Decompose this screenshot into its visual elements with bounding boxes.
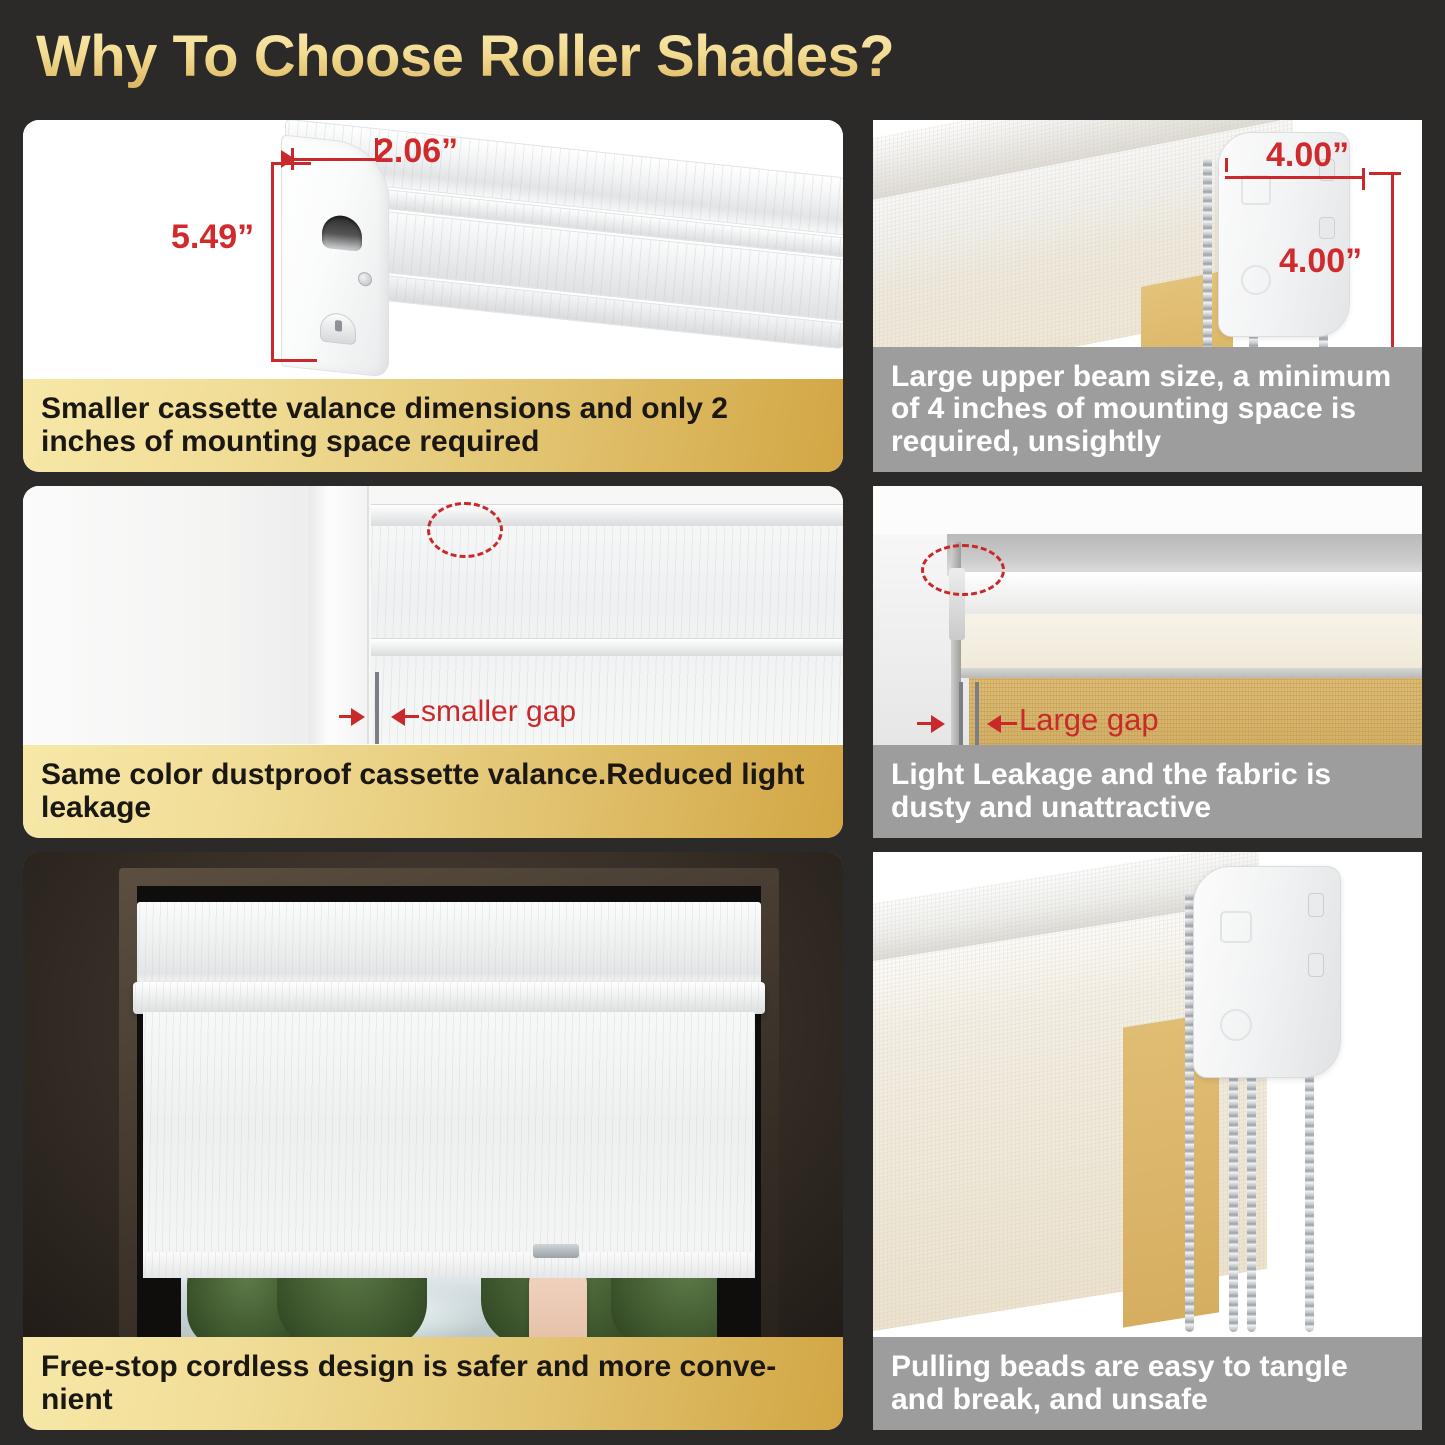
ceiling-strip [873,486,1422,534]
caption-text-panel-6: Pulling beads are easy to tangle and bre… [891,1351,1406,1416]
gap-marker-second [975,682,979,748]
caption-bar-panel-4: Light Leakage and the fabric is dusty an… [873,745,1422,838]
window-glass [181,1278,717,1338]
highlight-circle-icon [921,544,1005,596]
mounting-bracket [1193,866,1341,1078]
gap-marker [375,672,379,744]
photo-large-gap: Large gap [873,486,1422,748]
panel-smaller-gap: smaller gap Same color dustproof cassett… [23,486,843,838]
gap-marker [959,682,963,748]
shade-headrail [137,902,761,986]
gap-arrow-left-icon [391,708,405,726]
bead-chain-tail [1305,1074,1314,1332]
gap-arrow-left-icon [987,715,1001,733]
panel-pulling-beads: Pulling beads are easy to tangle and bre… [873,852,1422,1430]
caption-bar-panel-2: Large upper beam size, a minimum of 4 in… [873,347,1422,472]
comparison-grid: 2.06” 5.49” Smaller cassette valance dim… [0,108,1445,1445]
highlight-circle-icon [427,502,503,558]
caption-bar-panel-6: Pulling beads are easy to tangle and bre… [873,1337,1422,1430]
bead-chain-left [1203,158,1212,377]
width-dimension-label: 2.06” [375,132,458,171]
gap-arrow-right-icon [931,715,945,733]
photo-window-cordless [23,852,843,1338]
caption-text-panel-5: Free-stop cordless design is safer and m… [41,1351,827,1416]
shade-fabric [143,1012,755,1262]
shade-bottom-bar [143,1252,755,1278]
window-frame-inner [309,486,369,744]
cream-fabric-band [961,614,1422,672]
page-title: Why To Choose Roller Shades? [36,22,1036,92]
window-frame [119,868,779,1338]
bracket-emboss-icon [1241,265,1271,295]
caption-text-panel-4: Light Leakage and the fabric is dusty an… [891,759,1406,824]
beam-width-label: 4.00” [1266,136,1349,175]
bracket-emboss-icon [1220,1009,1252,1041]
bracket-notch-icon [1308,953,1324,977]
shade-mid-rail [371,638,843,656]
valance-end-cap [281,134,389,377]
caption-text-panel-3: Same color dustproof cassette valance.Re… [41,759,827,824]
large-gap-label: Large gap [1019,702,1159,738]
caption-text-panel-1: Smaller cassette valance dimensions and … [41,393,827,458]
bracket-emboss-icon [1220,911,1252,943]
end-cap-knob-icon [320,311,356,345]
height-dimension-label: 5.49” [171,218,254,257]
photo-smaller-gap: smaller gap [23,486,843,744]
caption-text-panel-2: Large upper beam size, a minimum of 4 in… [891,361,1406,458]
panel-smaller-cassette: 2.06” 5.49” Smaller cassette valance dim… [23,120,843,472]
tree-foliage [611,1278,717,1338]
bracket-notch-icon [1319,217,1335,239]
end-cap-slot-icon [322,214,362,252]
shade-valance-lip [133,982,765,1014]
gap-arrow-right-icon [351,708,365,726]
fabric-rail [961,668,1422,678]
tree-foliage [277,1278,427,1338]
panel-large-gap: Large gap Light Leakage and the fabric i… [873,486,1422,838]
photo-large-beam: 4.00” 4.00” [873,120,1422,377]
photo-bead-chains [873,852,1422,1334]
page-title-text: Why To Choose Roller Shades? [36,22,1036,92]
shadow-band [947,534,1422,576]
panel-cordless-design: Free-stop cordless design is safer and m… [23,852,843,1430]
bracket-emboss-icon [1241,175,1271,205]
smaller-gap-label: smaller gap [421,695,576,729]
end-cap-screw-icon [358,271,372,286]
caption-bar-panel-3: Same color dustproof cassette valance.Re… [23,745,843,838]
beam-height-label: 4.00” [1279,242,1362,281]
bracket-notch-icon [1308,893,1324,917]
window-opening [137,886,761,1338]
caption-bar-panel-1: Smaller cassette valance dimensions and … [23,379,843,472]
photo-cassette-valance: 2.06” 5.49” [23,120,843,380]
window-frame-outer [23,486,353,744]
caption-bar-panel-5: Free-stop cordless design is safer and m… [23,1337,843,1430]
panel-large-upper-beam: 4.00” 4.00” Large upper beam size, a min… [873,120,1422,472]
pull-tab-handle [533,1244,579,1258]
